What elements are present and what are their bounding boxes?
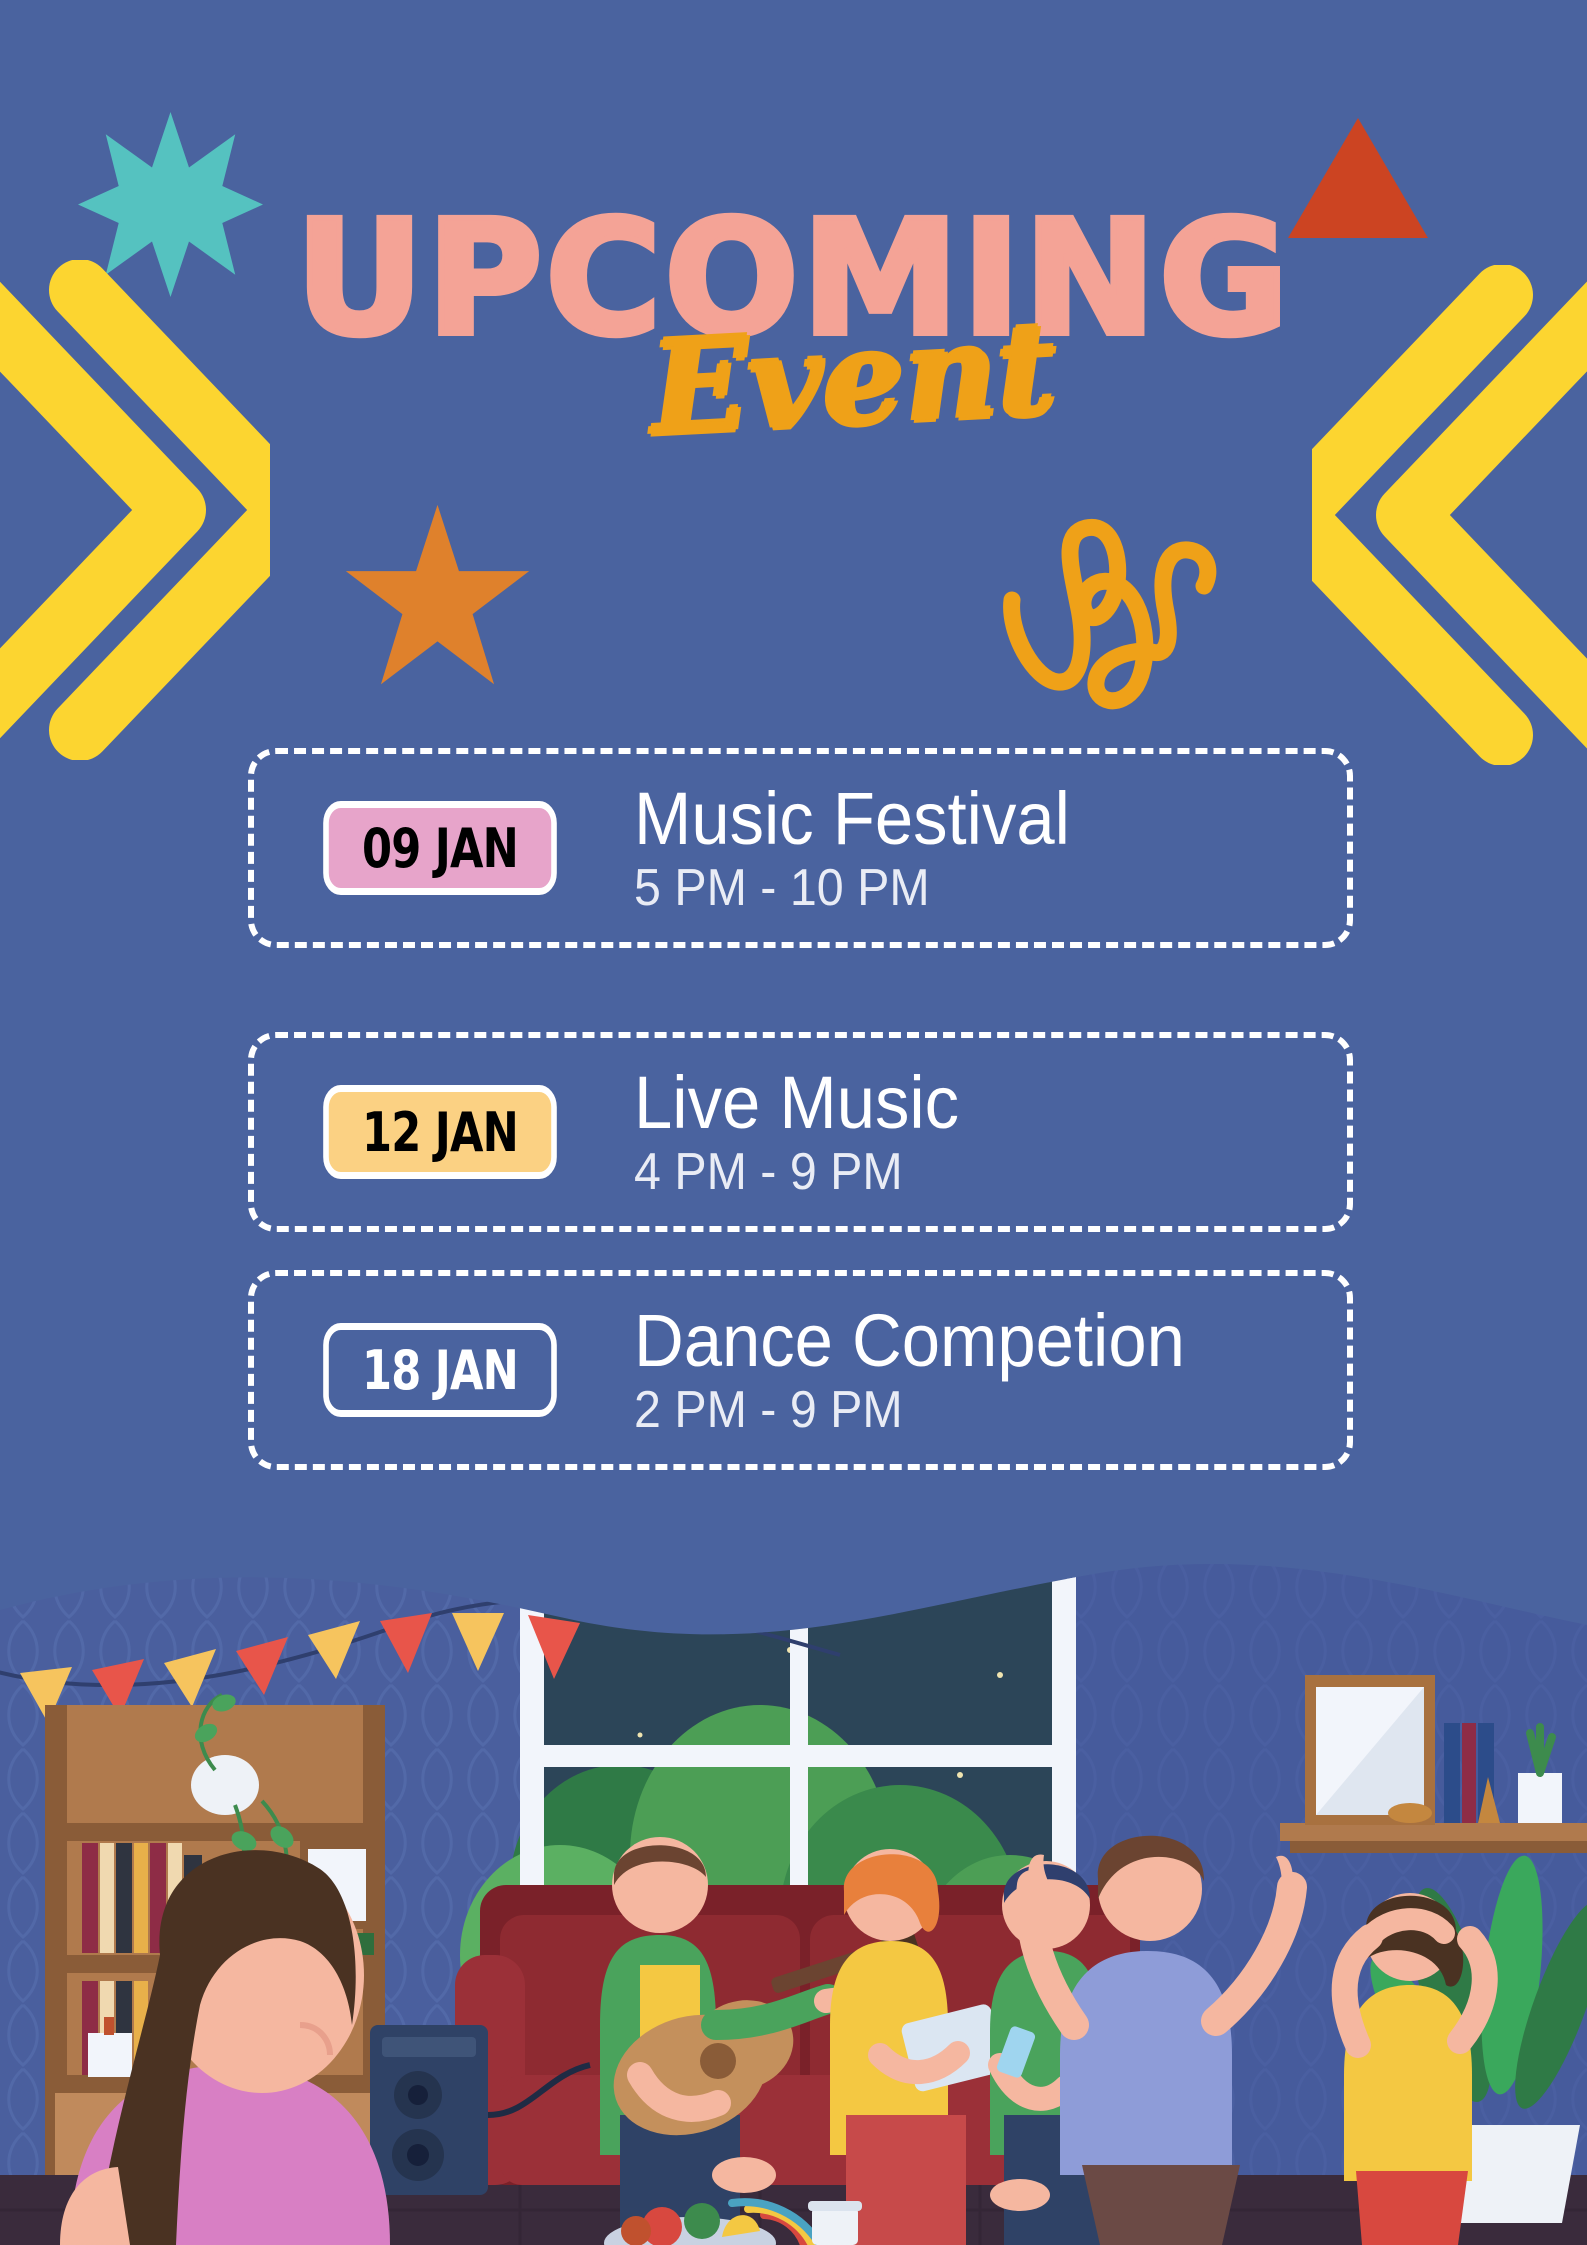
event-name: Music Festival	[634, 782, 1070, 856]
event-time: 4 PM - 9 PM	[634, 1146, 959, 1198]
event-details: Live Music 4 PM - 9 PM	[634, 1066, 984, 1198]
event-card[interactable]: 18 JAN Dance Competion 2 PM - 9 PM	[248, 1270, 1353, 1470]
event-details: Music Festival 5 PM - 10 PM	[634, 782, 1103, 914]
event-list: 09 JAN Music Festival 5 PM - 10 PM 12 JA…	[248, 748, 1353, 1470]
cup	[808, 2201, 862, 2245]
chevrons-left-icon	[0, 260, 270, 760]
event-card[interactable]: 09 JAN Music Festival 5 PM - 10 PM	[248, 748, 1353, 948]
triangle-icon	[1288, 118, 1428, 238]
event-time: 2 PM - 9 PM	[634, 1384, 1185, 1436]
event-name: Live Music	[634, 1066, 959, 1140]
five-point-star-icon	[340, 500, 535, 695]
poster-canvas: UPCOMING Event 09 JAN Music Festival 5 P…	[0, 0, 1587, 2245]
person-dancing-woman	[1344, 1893, 1485, 2245]
event-date-badge: 12 JAN	[323, 1085, 557, 1179]
event-card[interactable]: 12 JAN Live Music 4 PM - 9 PM	[248, 1032, 1353, 1232]
event-details: Dance Competion 2 PM - 9 PM	[634, 1304, 1226, 1436]
event-date-badge: 18 JAN	[323, 1323, 557, 1417]
event-date-badge: 09 JAN	[323, 801, 557, 895]
chevrons-right-icon	[1312, 265, 1587, 765]
event-name: Dance Competion	[634, 1304, 1185, 1378]
event-time: 5 PM - 10 PM	[634, 862, 1070, 914]
party-illustration	[0, 1555, 1587, 2245]
squiggle-icon	[1000, 500, 1230, 710]
